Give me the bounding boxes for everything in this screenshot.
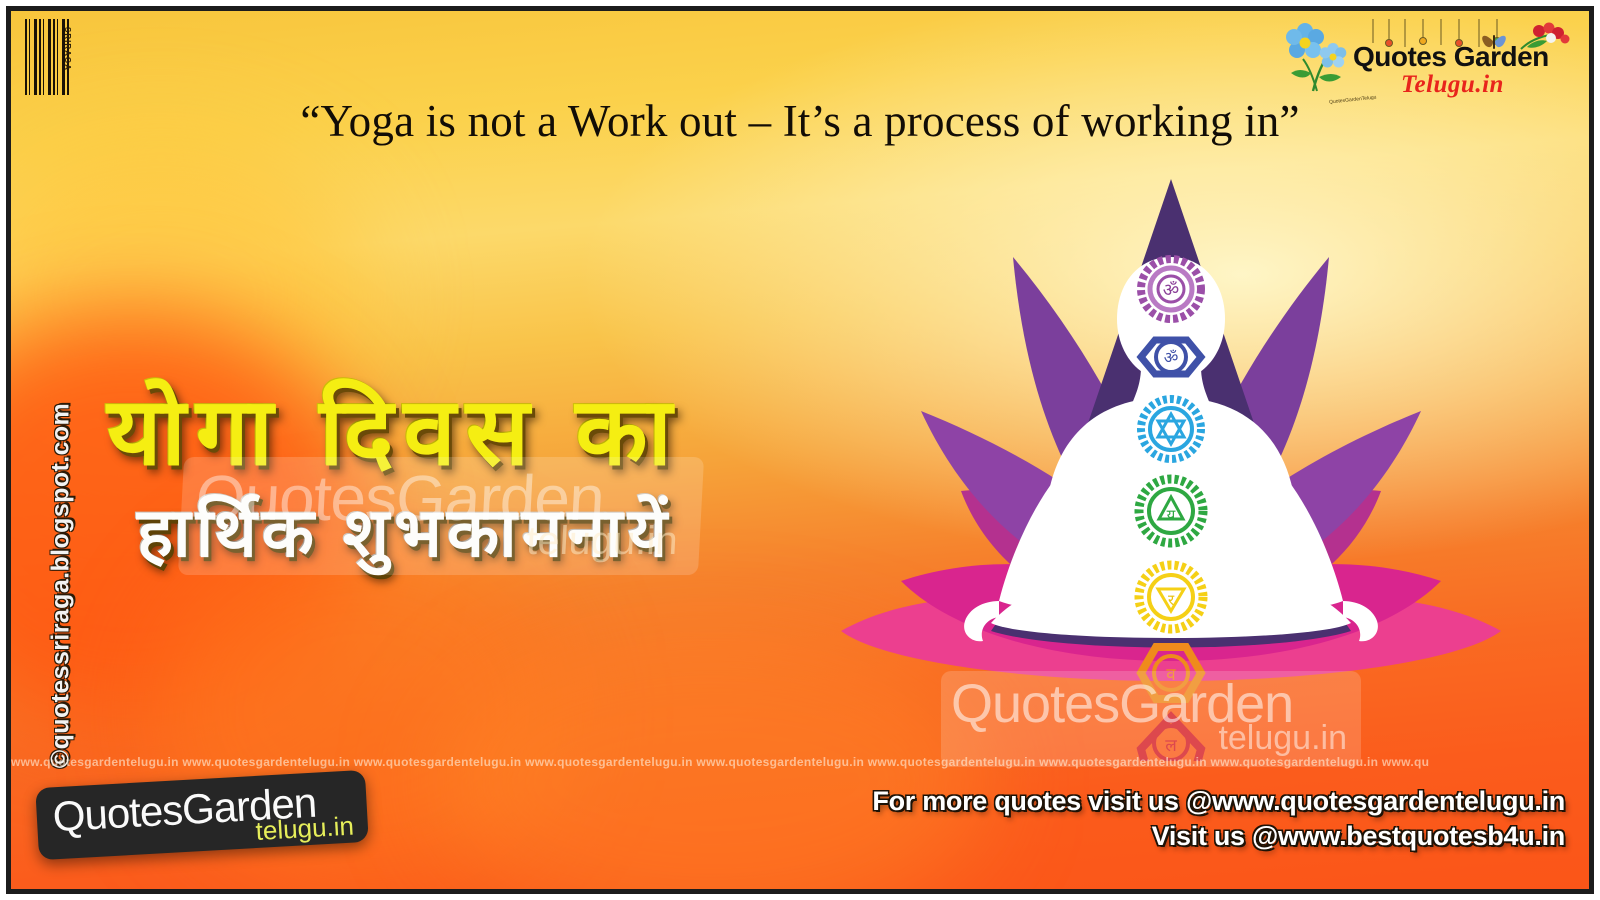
watermark-url-strip: www.quotesgardentelugu.in www.quotesgard… xyxy=(11,751,1589,773)
english-quote-text: “Yoga is not a Work out – It’s a process… xyxy=(11,95,1589,147)
footer-line-1[interactable]: For more quotes visit us @www.quotesgard… xyxy=(872,784,1565,820)
footer-links: For more quotes visit us @www.quotesgard… xyxy=(872,784,1565,855)
svg-text:य: य xyxy=(1167,506,1176,524)
brand-badge[interactable]: QuotesGarden telugu.in xyxy=(35,770,369,860)
hindi-headline-line2: हार्थिक शुभकामनायें xyxy=(137,499,927,567)
poster-frame: SRIRAGA xyxy=(6,6,1594,894)
poster-background: SRIRAGA xyxy=(11,11,1589,889)
yoga-lotus-illustration: ॐ ॐ xyxy=(841,161,1501,761)
svg-text:व: व xyxy=(1166,665,1176,685)
hindi-greeting-block: योगा दिवस का हार्थिक शुभकामनायें xyxy=(107,385,927,567)
hindi-headline-line1: योगा दिवस का xyxy=(107,385,927,479)
header-logo-name: Quotes Garden xyxy=(1353,41,1549,73)
svg-text:ॐ: ॐ xyxy=(1163,280,1179,301)
yoga-day-greeting-poster: SRIRAGA xyxy=(0,0,1600,900)
footer-line-2[interactable]: Visit us @www.bestquotesb4u.in xyxy=(872,819,1565,855)
barcode-label: SRIRAGA xyxy=(63,27,72,71)
svg-text:ॐ: ॐ xyxy=(1164,348,1179,367)
lotus-meditation-artwork: ॐ ॐ xyxy=(841,161,1501,761)
brand-badge-subtitle: telugu.in xyxy=(255,811,355,847)
flower-cluster-icon xyxy=(1286,23,1346,91)
svg-text:र: र xyxy=(1168,591,1175,609)
